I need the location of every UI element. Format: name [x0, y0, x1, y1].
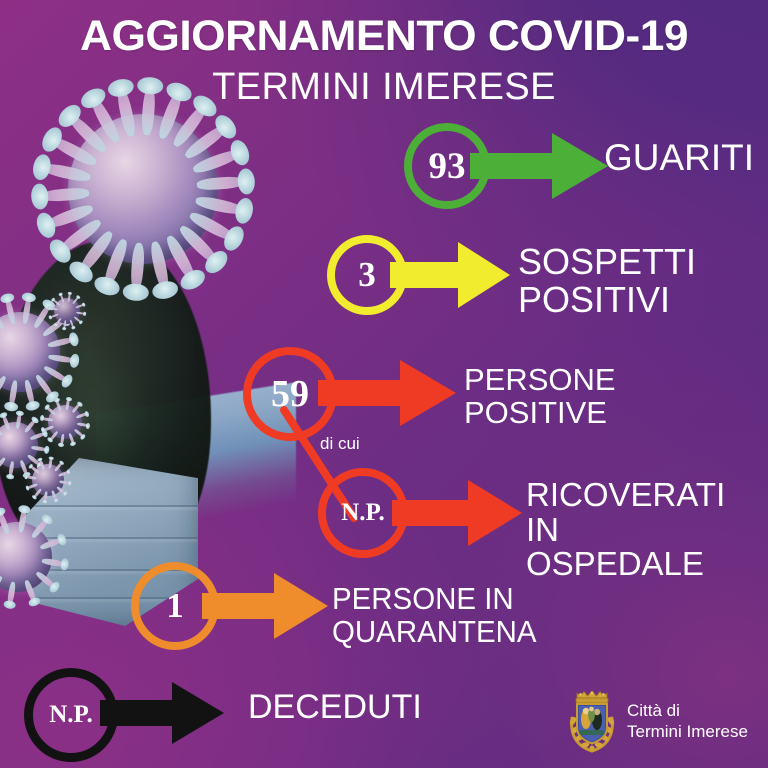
stat-label-persone-in-quarantena: PERSONE IN QUARANTENA [332, 583, 537, 648]
stat-label-sospetti-positivi: SOSPETTI POSITIVI [518, 243, 696, 319]
stat-arrow-persone-positive [318, 360, 460, 426]
stat-arrow-ricoverati-in-ospedale [392, 480, 530, 546]
covid-update-poster: AGGIORNAMENTO COVID-19 TERMINI IMERESE 9… [0, 0, 768, 768]
page-subtitle: TERMINI IMERESE [0, 66, 768, 109]
stat-arrow-persone-in-quarantena [202, 573, 336, 639]
city-logo: Città di Termini Imerese [566, 688, 748, 754]
stat-value-sospetti-positivi: 3 [327, 235, 407, 315]
stat-arrow-sospetti-positivi [390, 242, 520, 308]
stat-arrow-guariti [470, 133, 610, 199]
stat-label-ricoverati-in-ospedale: RICOVERATI IN OSPEDALE [526, 478, 725, 582]
city-name: Città di Termini Imerese [627, 700, 748, 742]
stat-label-deceduti: DECEDUTI [248, 690, 422, 726]
stat-label-persone-positive: PERSONE POSITIVE [464, 364, 616, 429]
page-title: AGGIORNAMENTO COVID-19 [0, 12, 768, 61]
stat-value-ricoverati-in-ospedale: N.P. [318, 468, 408, 558]
stat-value-guariti: 93 [404, 123, 490, 209]
stat-arrow-deceduti [100, 682, 234, 744]
stat-value-persone-positive: 59 [243, 347, 337, 441]
coat-of-arms-icon [566, 688, 618, 754]
stat-value-persone-in-quarantena: 1 [131, 562, 219, 650]
stat-label-guariti: GUARITI [604, 139, 754, 178]
connector-note: di cui [320, 434, 360, 454]
stat-value-deceduti: N.P. [24, 668, 118, 762]
